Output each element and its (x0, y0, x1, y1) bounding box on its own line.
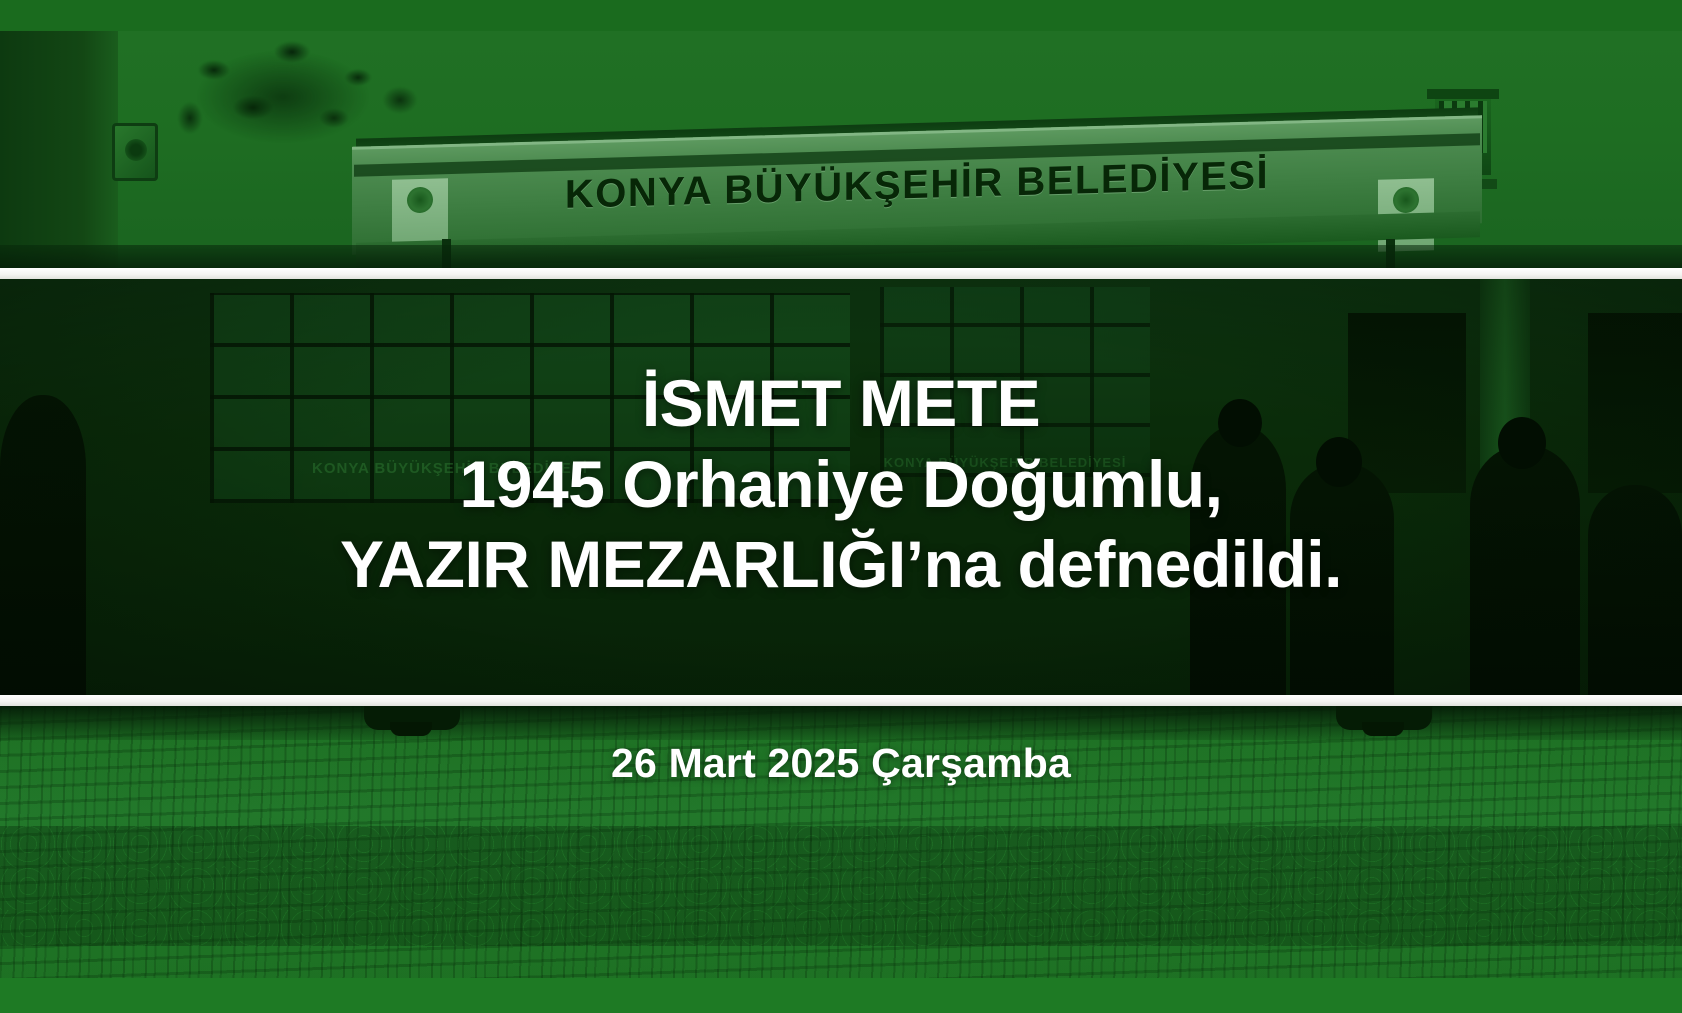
announcement-band: KONYA BÜYÜKŞEHİR BELEDİYESİ KONYA BÜYÜKŞ… (0, 279, 1682, 695)
burial-info: YAZIR MEZARLIĞI’na defnedildi. (340, 524, 1342, 605)
deceased-name: İSMET METE (642, 363, 1040, 444)
announcement-text-block: İSMET METE 1945 Orhaniye Doğumlu, YAZIR … (0, 279, 1682, 695)
date-text: 26 Mart 2025 Çarşamba (611, 740, 1071, 787)
top-green-strip (0, 0, 1682, 31)
bottom-green-strip (0, 978, 1682, 1013)
wall-left (0, 31, 118, 268)
divider-top (0, 268, 1682, 279)
date-block: 26 Mart 2025 Çarşamba (0, 706, 1682, 978)
top-photo-band: KONYA BÜYÜKŞEHİR BELEDİYESİ (0, 31, 1682, 268)
birth-info: 1945 Orhaniye Doğumlu, (460, 444, 1223, 525)
ground-shadow (0, 245, 1682, 268)
memorial-poster: KONYA BÜYÜKŞEHİR BELEDİYESİ KONYA BÜYÜKŞ… (0, 0, 1682, 1013)
wall-speaker-icon (112, 123, 158, 181)
divider-bottom (0, 695, 1682, 706)
